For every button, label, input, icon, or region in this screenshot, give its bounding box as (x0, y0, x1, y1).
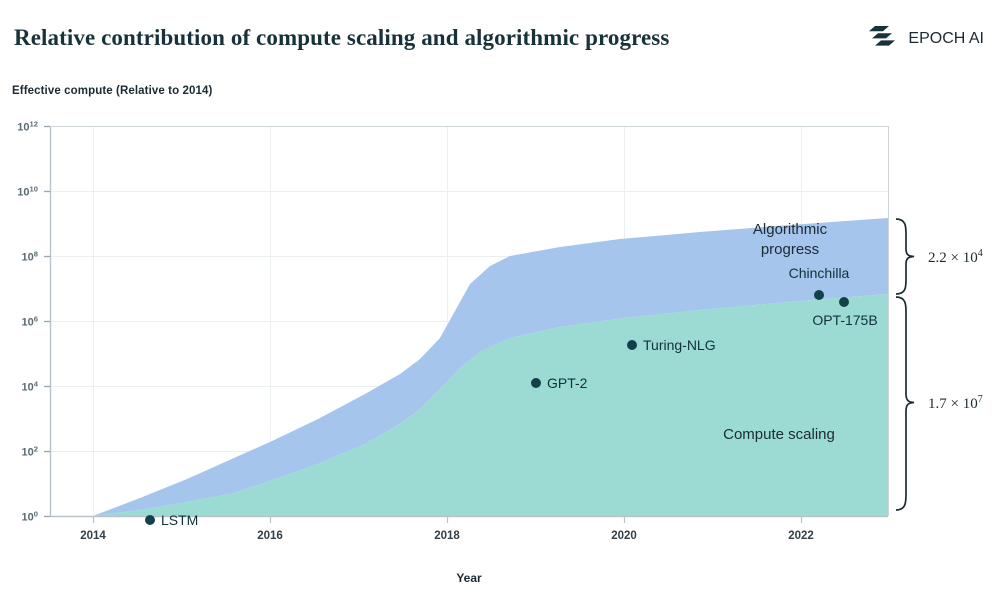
data-point-marker (814, 290, 824, 300)
brace-algorithmic-progress: 2.2 × 104 (896, 219, 983, 294)
chart-plot-area: 1012 1010 108 106 104 102 100 2014 2016 … (0, 106, 1000, 610)
svg-text:1010: 1010 (17, 185, 38, 199)
x-tick-label: 2018 (434, 530, 460, 542)
data-point-marker (839, 297, 849, 307)
y-tick-marks (44, 127, 50, 517)
y-tick-labels: 1012 1010 108 106 104 102 100 (17, 120, 38, 524)
svg-text:102: 102 (22, 445, 38, 459)
data-point-label: GPT-2 (547, 375, 588, 391)
y-tick-exponent: 6 (34, 315, 38, 324)
data-point-label: Turing-NLG (643, 337, 716, 353)
data-point-marker (627, 340, 637, 350)
y-tick-exponent: 4 (34, 380, 39, 389)
x-tick-label: 2016 (257, 530, 283, 542)
page-title: Relative contribution of compute scaling… (14, 25, 669, 51)
x-tick-label: 2014 (80, 530, 106, 542)
data-point-marker (145, 515, 155, 525)
y-tick-exponent: 10 (30, 185, 38, 194)
svg-text:100: 100 (22, 510, 38, 524)
y-tick-exponent: 12 (30, 120, 38, 129)
y-tick-label: 10 (22, 382, 34, 394)
data-point-label: LSTM (161, 512, 198, 528)
y-tick-exponent: 0 (34, 510, 38, 519)
brace-label-compute: 1.7 × 107 (928, 394, 983, 412)
x-axis-title: Year (456, 571, 482, 585)
y-tick-label: 10 (17, 122, 29, 134)
svg-text:1012: 1012 (17, 120, 38, 134)
y-axis-caption: Effective compute (Relative to 2014) (12, 85, 212, 97)
data-point-label: OPT-175B (812, 312, 877, 328)
algorithmic-progress-label-line1: Algorithmic (753, 221, 828, 238)
brand-name: EPOCH AI (908, 30, 984, 48)
y-tick-label: 10 (17, 187, 29, 199)
y-tick-label: 10 (22, 512, 34, 524)
svg-text:104: 104 (22, 380, 39, 394)
algorithmic-progress-label-line2: progress (761, 241, 819, 258)
x-tick-label: 2022 (788, 530, 814, 542)
brace-label-algorithmic: 2.2 × 104 (928, 248, 983, 266)
data-point-marker (531, 378, 541, 388)
y-tick-label: 10 (22, 447, 34, 459)
page-header: Relative contribution of compute scaling… (0, 0, 1000, 70)
y-tick-exponent: 2 (34, 445, 38, 454)
svg-text:106: 106 (22, 315, 38, 329)
svg-text:108: 108 (22, 250, 38, 264)
brand-logo: EPOCH AI (869, 24, 984, 53)
data-point-label: Chinchilla (789, 265, 850, 281)
y-tick-label: 10 (22, 252, 34, 264)
epoch-slanted-bars-icon (869, 24, 899, 53)
compute-scaling-label: Compute scaling (723, 426, 835, 443)
x-tick-labels: 2014 2016 2018 2020 2022 (80, 530, 814, 542)
brace-compute-scaling: 1.7 × 107 (896, 297, 983, 510)
x-tick-label: 2020 (611, 530, 637, 542)
y-tick-exponent: 8 (34, 250, 38, 259)
y-tick-label: 10 (22, 317, 34, 329)
